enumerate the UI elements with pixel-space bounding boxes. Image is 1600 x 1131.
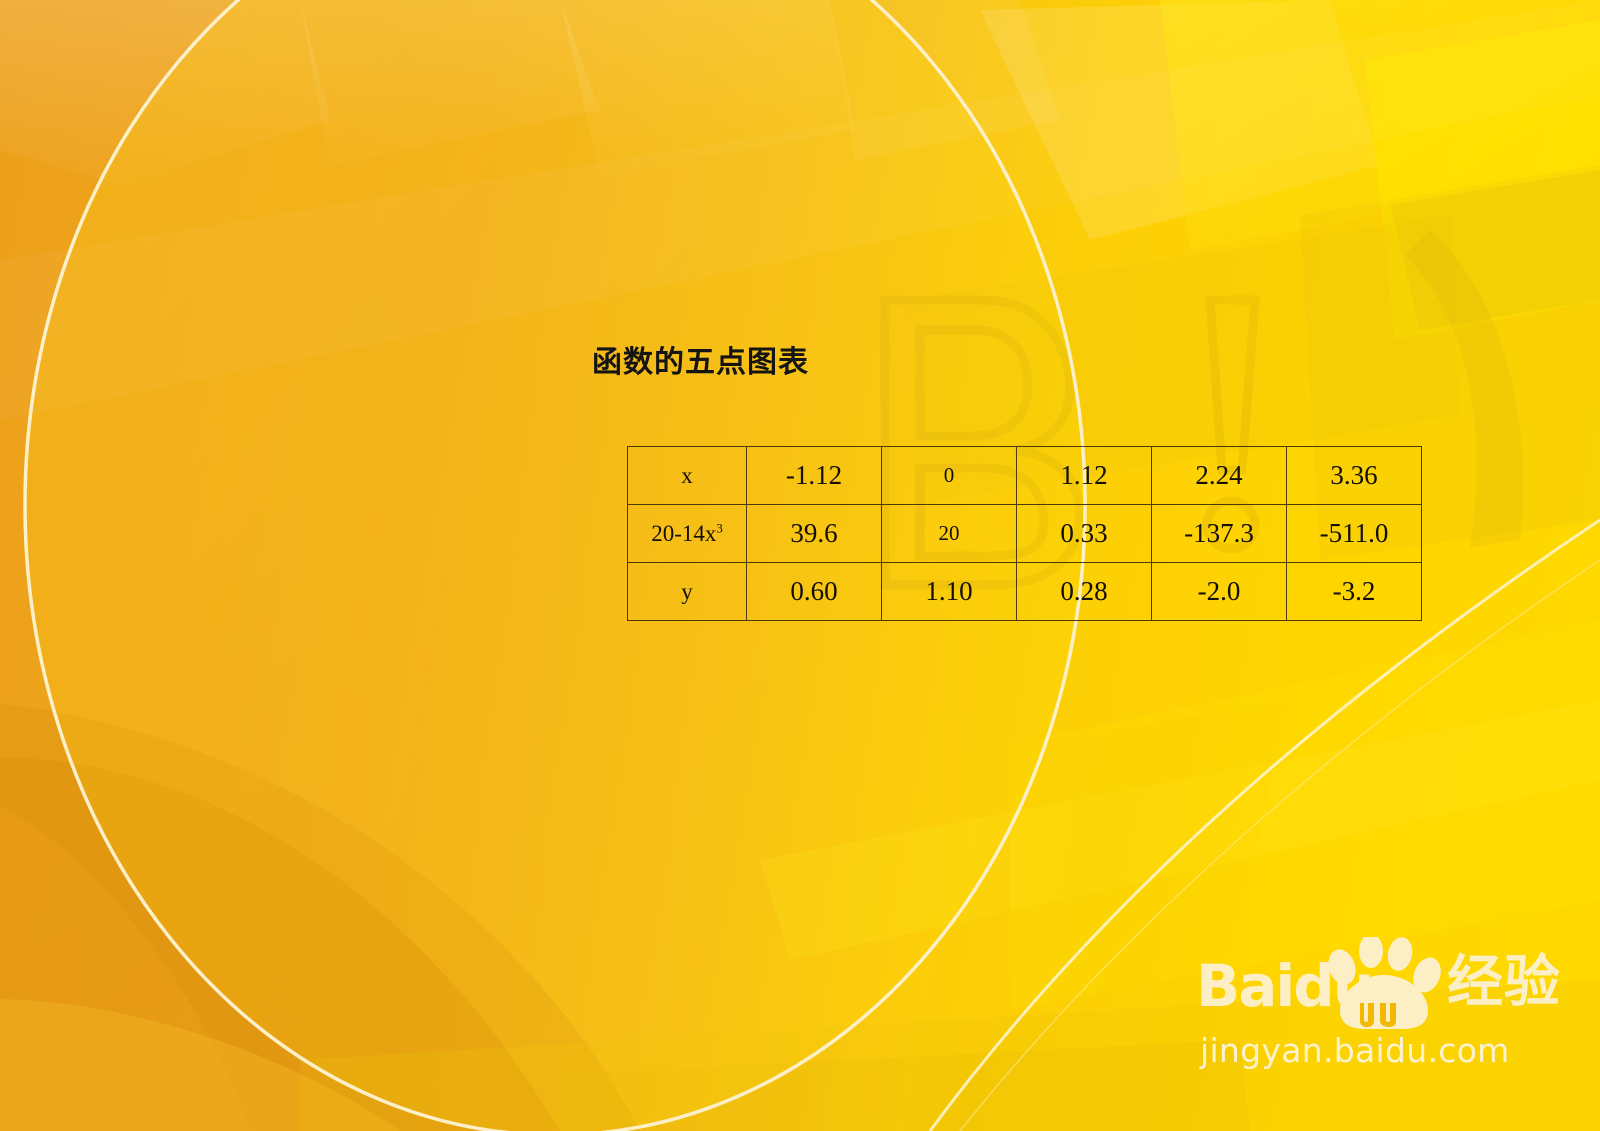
cell-x-3: 1.12 bbox=[1017, 447, 1152, 505]
cell-y-3: 0.28 bbox=[1017, 563, 1152, 621]
page-title: 函数的五点图表 bbox=[592, 337, 809, 381]
cell-f-4: -137.3 bbox=[1152, 505, 1287, 563]
cell-y-2: 1.10 bbox=[882, 563, 1017, 621]
baidu-jingyan-cn: 经验 bbox=[1447, 955, 1561, 1011]
cell-f-5: -511.0 bbox=[1287, 505, 1422, 563]
five-point-table: x -1.12 0 1.12 2.24 3.36 20-14x3 39.6 20… bbox=[627, 446, 1422, 621]
cell-y-1: 0.60 bbox=[747, 563, 882, 621]
table-row: 20-14x3 39.6 20 0.33 -137.3 -511.0 bbox=[628, 505, 1422, 563]
table-row: y 0.60 1.10 0.28 -2.0 -3.2 bbox=[628, 563, 1422, 621]
cell-x-1: -1.12 bbox=[747, 447, 882, 505]
slide-canvas: 函数的五点图表 x -1.12 0 1.12 2.24 3.36 20-14x3… bbox=[0, 0, 1600, 1131]
cell-y-5: -3.2 bbox=[1287, 563, 1422, 621]
five-point-table-wrapper: x -1.12 0 1.12 2.24 3.36 20-14x3 39.6 20… bbox=[627, 446, 1422, 621]
expression-base: 20-14x bbox=[651, 521, 716, 546]
cell-f-1: 39.6 bbox=[747, 505, 882, 563]
cell-y-4: -2.0 bbox=[1152, 563, 1287, 621]
row-label-x: x bbox=[628, 447, 747, 505]
watermark-url: jingyan.baidu.com bbox=[1200, 1031, 1510, 1070]
baidu-logo: Baidu 经验 bbox=[1196, 941, 1586, 1025]
baidu-paw-icon bbox=[1324, 937, 1444, 1029]
cell-x-4: 2.24 bbox=[1152, 447, 1287, 505]
baidu-jingyan-watermark: Baidu 经验 jingyan.baidu.com bbox=[1196, 941, 1586, 1071]
table-row: x -1.12 0 1.12 2.24 3.36 bbox=[628, 447, 1422, 505]
cell-f-3: 0.33 bbox=[1017, 505, 1152, 563]
cell-x-2: 0 bbox=[882, 447, 1017, 505]
cell-f-2: 20 bbox=[882, 505, 1017, 563]
expression-exponent: 3 bbox=[716, 521, 722, 535]
row-label-y: y bbox=[628, 563, 747, 621]
row-label-expression: 20-14x3 bbox=[628, 505, 747, 563]
cell-x-5: 3.36 bbox=[1287, 447, 1422, 505]
